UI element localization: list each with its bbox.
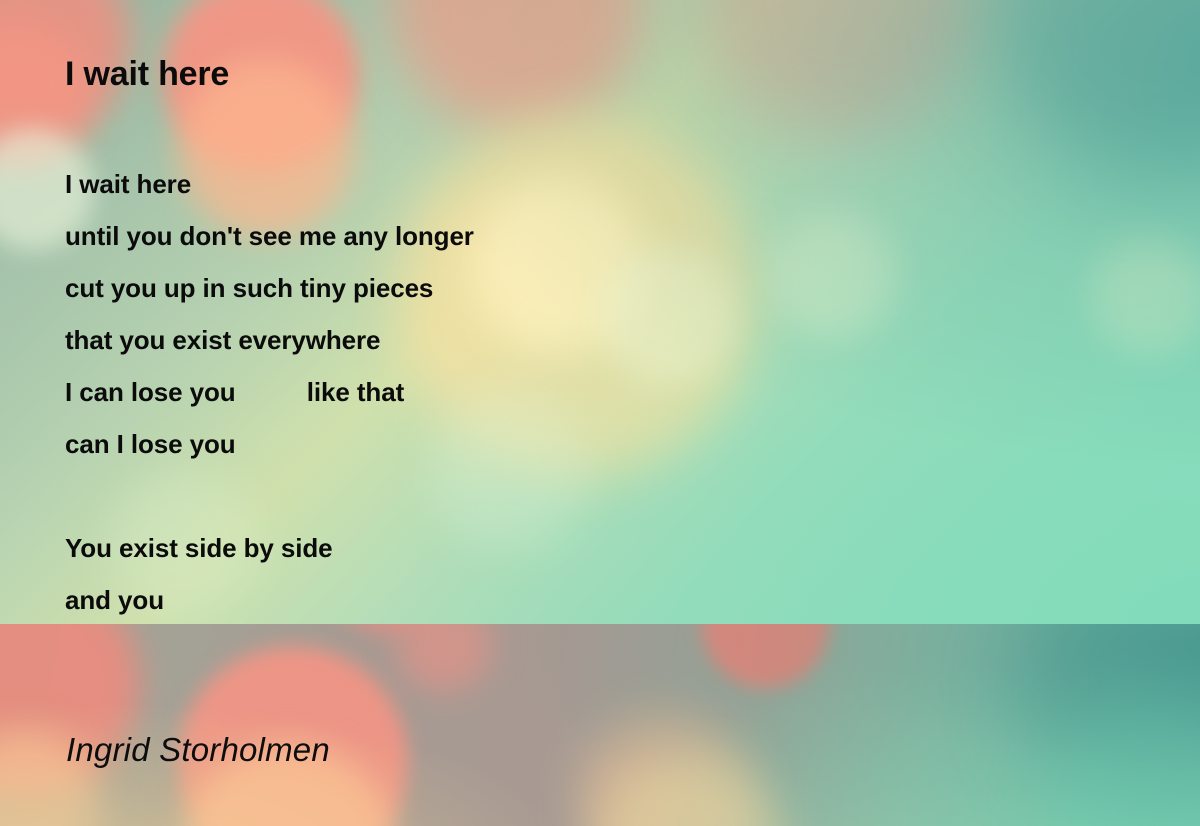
poem-line: You exist side by side <box>65 522 474 574</box>
poem-line: that you exist everywhere <box>65 314 474 366</box>
poem-title: I wait here <box>65 55 229 94</box>
poem-line: until you don't see me any longer <box>65 210 474 262</box>
poem-line: and you <box>65 574 474 626</box>
poem-line: cut you up in such tiny pieces <box>65 262 474 314</box>
author-panel <box>0 624 1200 826</box>
poem-body: I wait hereuntil you don't see me any lo… <box>65 158 474 626</box>
author-teal-tint <box>0 624 1200 826</box>
poem-card: I wait here I wait hereuntil you don't s… <box>0 0 1200 826</box>
poem-line: I can lose you like that <box>65 366 474 418</box>
poem-line: can I lose you <box>65 418 474 470</box>
poem-line <box>65 470 474 522</box>
poem-line: I wait here <box>65 158 474 210</box>
author-name: Ingrid Storholmen <box>66 731 330 769</box>
